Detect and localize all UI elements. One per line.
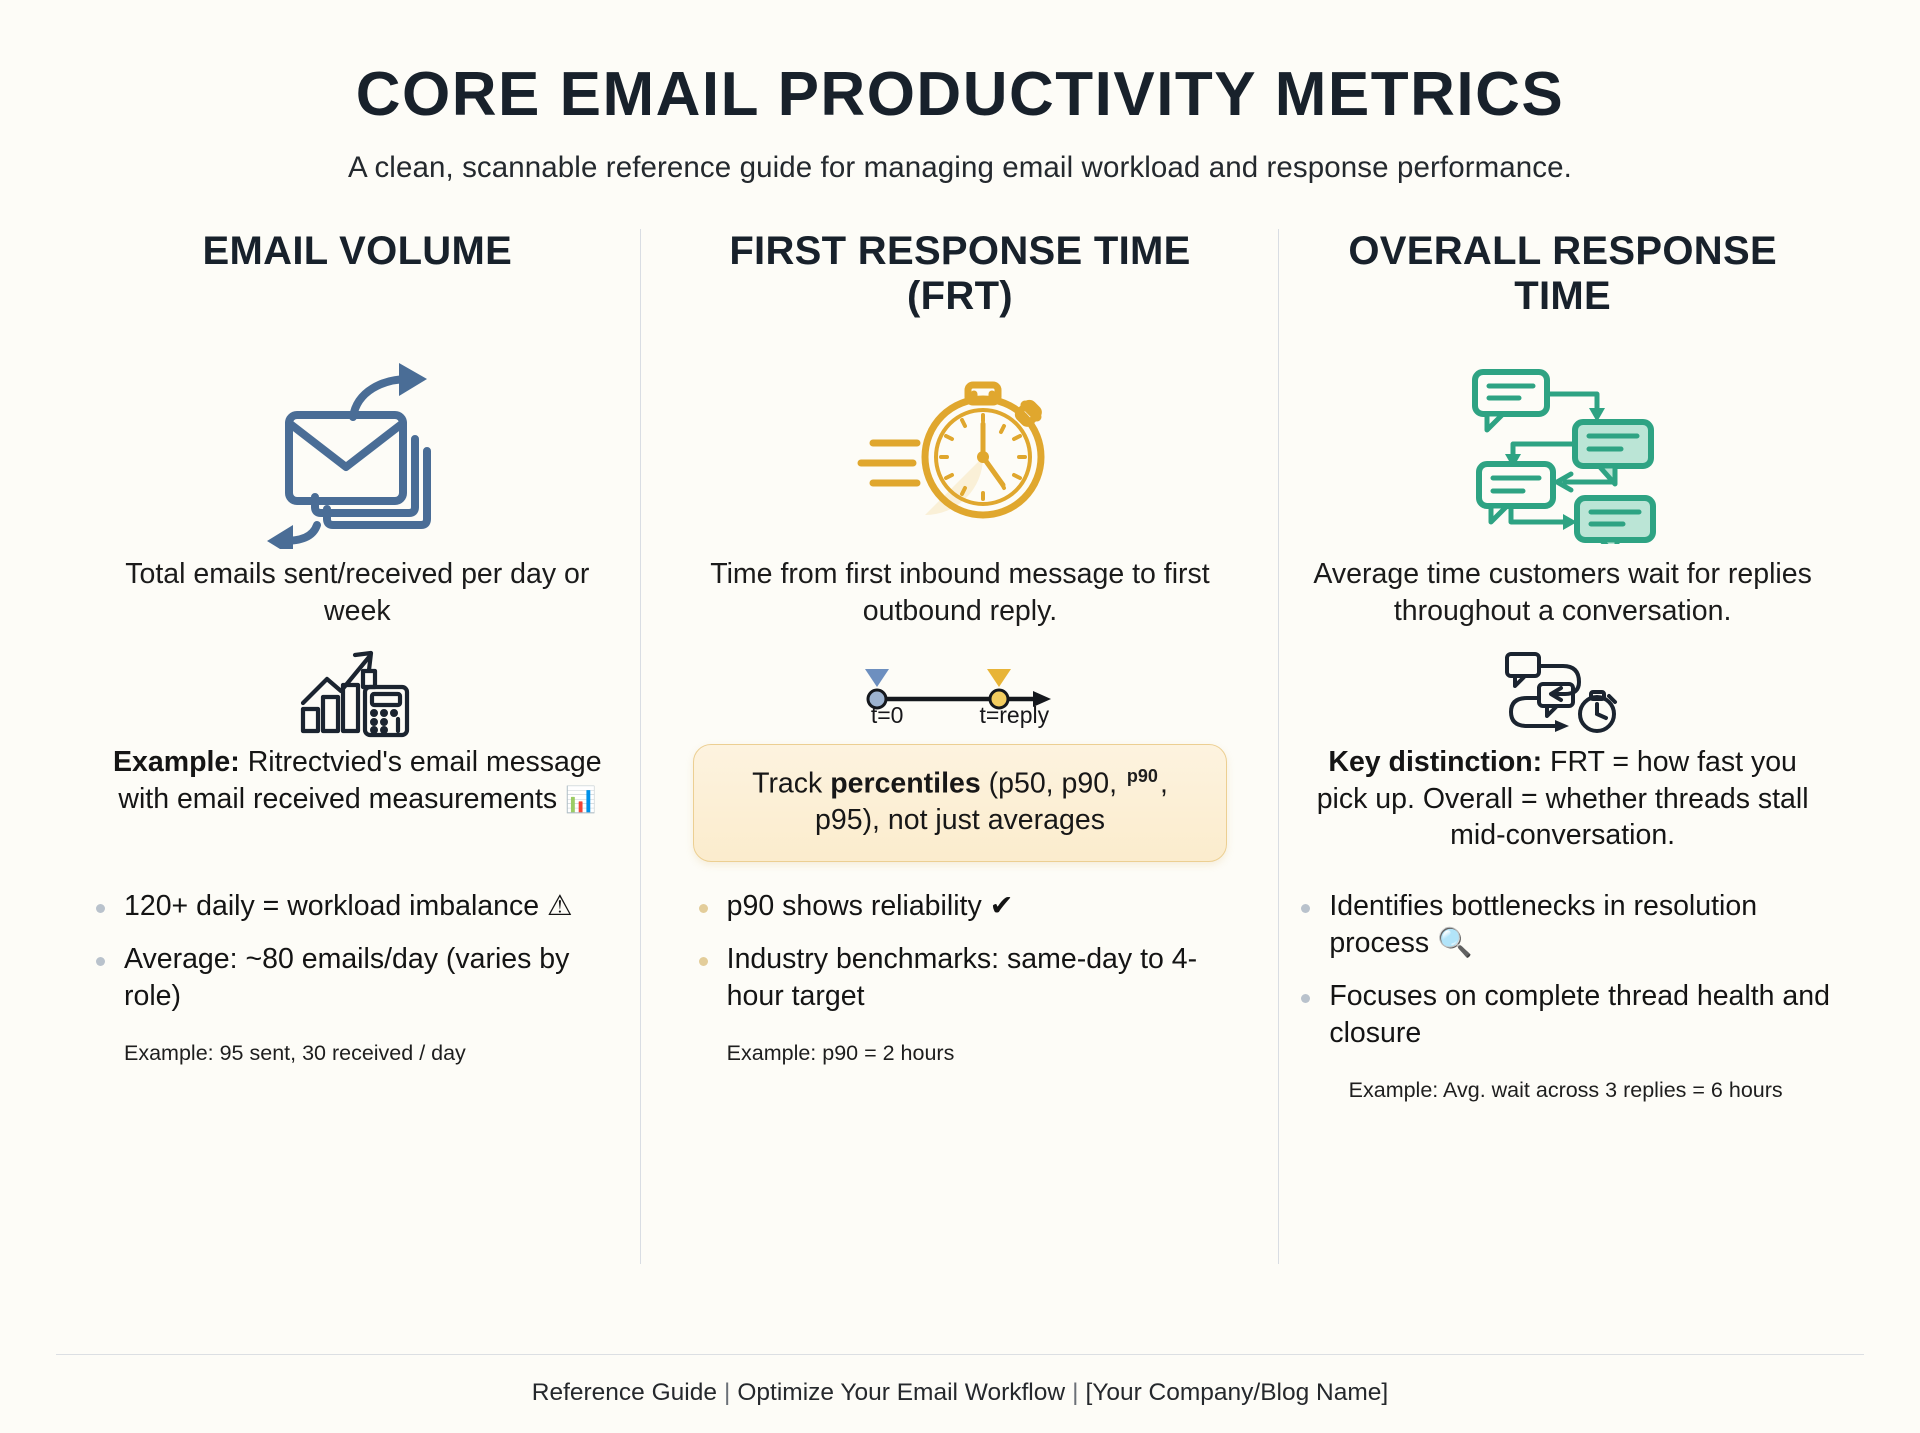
stacked-envelopes-icon	[257, 351, 457, 556]
column-title-overall: OVERALL RESPONSE TIME	[1295, 229, 1830, 337]
list-item: Average: ~80 emails/day (varies by role)	[90, 941, 625, 1015]
footer-item-company-name: [Your Company/Blog Name]	[1085, 1379, 1388, 1406]
footnote-email-volume: Example: 95 sent, 30 received / day	[90, 1041, 625, 1066]
bar-chart-emoji: 📊	[565, 786, 596, 814]
callout-prefix: Track	[752, 767, 830, 799]
column-title-email-volume: EMAIL VOLUME	[203, 229, 513, 337]
column-description-overall: Average time customers wait for replies …	[1295, 556, 1830, 634]
footer-item-reference-guide: Reference Guide	[532, 1379, 717, 1406]
example-overall: Key distinction: FRT = how fast you pick…	[1295, 744, 1830, 862]
column-first-response-time: FIRST RESPONSE TIME (FRT)	[659, 229, 1262, 1348]
footer: Reference Guide|Optimize Your Email Work…	[0, 1354, 1920, 1433]
example-label: Example:	[113, 746, 240, 778]
example-label: Key distinction:	[1328, 746, 1542, 778]
header: CORE EMAIL PRODUCTIVITY METRICS A clean,…	[0, 0, 1920, 185]
list-item: Industry benchmarks: same-day to 4-hour …	[693, 941, 1228, 1015]
footer-separator: |	[717, 1379, 737, 1406]
column-description-frt: Time from first inbound message to first…	[693, 556, 1228, 634]
footer-separator: |	[1065, 1379, 1085, 1406]
column-title-frt: FIRST RESPONSE TIME (FRT)	[693, 229, 1228, 337]
timeline-start-label: t=0	[871, 702, 904, 729]
timeline-end-label: t=reply	[979, 702, 1049, 729]
list-item: p90 shows reliability ✔	[693, 888, 1228, 925]
footnote-overall: Example: Avg. wait across 3 replies = 6 …	[1295, 1078, 1830, 1103]
timeline-labels: t=0 t=reply	[855, 702, 1065, 729]
example-email-volume: Example: Ritrectvied's email message wit…	[90, 744, 625, 862]
frt-timeline-diagram: t=0 t=reply	[855, 640, 1065, 744]
callout-bold: percentiles	[830, 767, 981, 799]
bar-chart-calculator-icon	[299, 640, 415, 744]
chat-flow-icon	[1465, 351, 1660, 556]
bullet-list-email-volume: 120+ daily = workload imbalance ⚠ Averag…	[90, 888, 625, 1031]
footnote-frt: Example: p90 = 2 hours	[693, 1041, 1228, 1066]
p90-badge: p90	[1125, 765, 1160, 788]
callout-middle: (p50, p90,	[981, 767, 1125, 799]
footer-text: Reference Guide|Optimize Your Email Work…	[56, 1355, 1864, 1433]
page-subtitle: A clean, scannable reference guide for m…	[0, 151, 1920, 185]
metrics-columns: EMAIL VOLUME	[0, 229, 1920, 1348]
column-overall-response-time: OVERALL RESPONSE TIME	[1261, 229, 1864, 1348]
callout-text: Track percentiles (p50, p90, p90, p95), …	[720, 765, 1201, 840]
bullet-list-overall: Identifies bottlenecks in resolution pro…	[1295, 888, 1830, 1068]
bullet-list-frt: p90 shows reliability ✔ Industry benchma…	[693, 888, 1228, 1031]
infographic-page: CORE EMAIL PRODUCTIVITY METRICS A clean,…	[0, 0, 1920, 1433]
list-item: Focuses on complete thread health and cl…	[1295, 978, 1830, 1052]
stopwatch-icon	[855, 351, 1065, 556]
list-item: Identifies bottlenecks in resolution pro…	[1295, 888, 1830, 962]
list-item: 120+ daily = workload imbalance ⚠	[90, 888, 625, 925]
page-title: CORE EMAIL PRODUCTIVITY METRICS	[0, 62, 1920, 127]
chat-loop-stopwatch-icon	[1499, 640, 1627, 744]
column-description-email-volume: Total emails sent/received per day or we…	[90, 556, 625, 634]
percentiles-callout: Track percentiles (p50, p90, p90, p95), …	[693, 744, 1228, 862]
footer-item-optimize-workflow: Optimize Your Email Workflow	[737, 1379, 1065, 1406]
column-email-volume: EMAIL VOLUME	[56, 229, 659, 1348]
